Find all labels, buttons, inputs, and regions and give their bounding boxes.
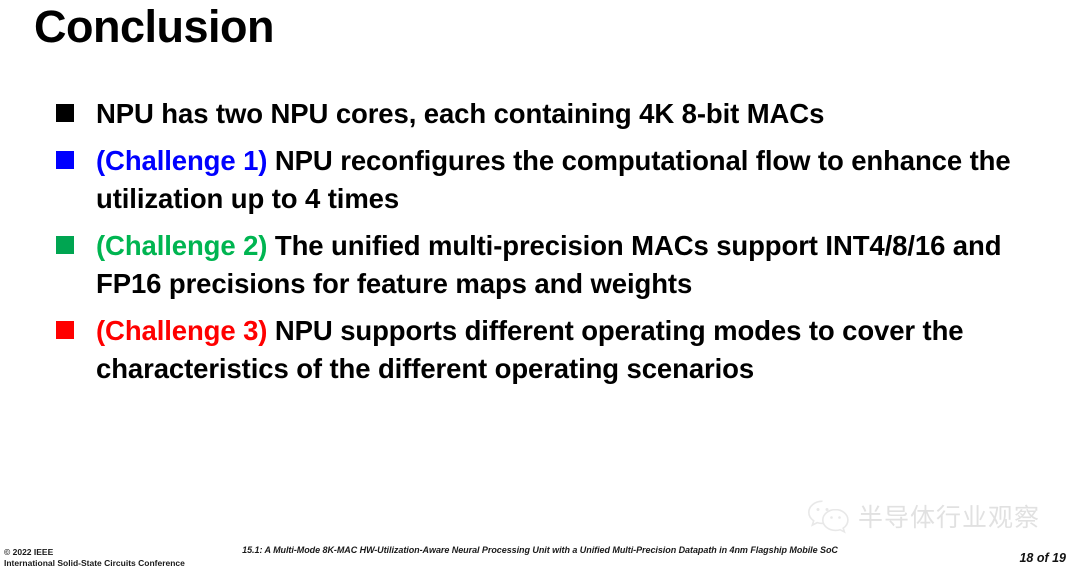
list-item-tag: (Challenge 3) — [96, 315, 267, 346]
wechat-logo-icon — [806, 498, 850, 534]
list-item: (Challenge 1) NPU reconfigures the compu… — [56, 142, 1046, 218]
page-indicator: 18 of 19 — [1019, 551, 1066, 565]
watermark-text: 半导体行业观察 — [858, 498, 1040, 534]
paper-title-footer: 15.1: A Multi-Mode 8K-MAC HW-Utilization… — [0, 545, 1080, 555]
list-item-text: (Challenge 2) The unified multi-precisio… — [96, 227, 1046, 303]
filled-square-bullet-icon — [56, 151, 74, 169]
list-item-body: NPU has two NPU cores, each containing 4… — [96, 98, 824, 129]
filled-square-bullet-icon — [56, 236, 74, 254]
watermark: 半导体行业观察 — [806, 498, 1040, 534]
conclusion-bullet-list: NPU has two NPU cores, each containing 4… — [56, 95, 1046, 397]
list-item-tag: (Challenge 2) — [96, 230, 267, 261]
list-item: NPU has two NPU cores, each containing 4… — [56, 95, 1046, 133]
list-item: (Challenge 2) The unified multi-precisio… — [56, 227, 1046, 303]
slide-canvas: Conclusion NPU has two NPU cores, each c… — [0, 0, 1080, 572]
list-item: (Challenge 3) NPU supports different ope… — [56, 312, 1046, 388]
filled-square-bullet-icon — [56, 321, 74, 339]
filled-square-bullet-icon — [56, 104, 74, 122]
list-item-text: (Challenge 1) NPU reconfigures the compu… — [96, 142, 1046, 218]
page-title: Conclusion — [34, 2, 274, 52]
list-item-tag: (Challenge 1) — [96, 145, 267, 176]
copyright-line-2: International Solid-State Circuits Confe… — [4, 558, 185, 569]
list-item-text: NPU has two NPU cores, each containing 4… — [96, 95, 1046, 133]
list-item-text: (Challenge 3) NPU supports different ope… — [96, 312, 1046, 388]
